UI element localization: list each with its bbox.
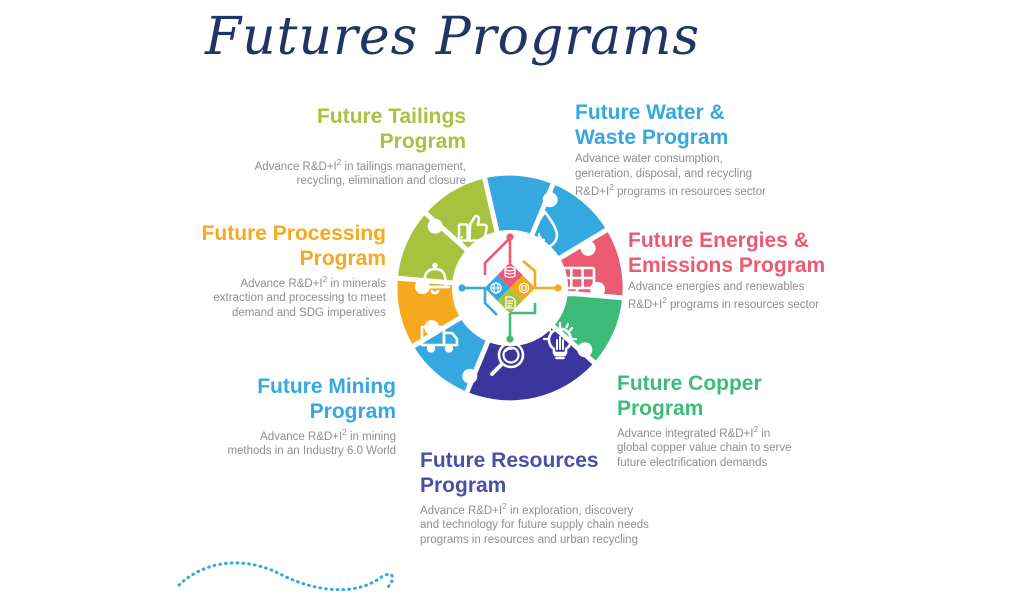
puzzle-wheel-diagram [385, 163, 635, 413]
desc-line: demand and SDG imperatives [232, 307, 386, 319]
program-title-line1: Future Resources [420, 449, 599, 472]
desc-line: Advance R&D+I2 in exploration, discovery [420, 505, 633, 517]
desc-line: Advance integrated R&D+I2 in [617, 428, 770, 440]
program-title-line2: Program [420, 474, 506, 497]
program-title-line1: Future Tailings [317, 105, 466, 128]
program-title-mining: Future Mining Program [200, 374, 396, 424]
desc-line: and technology for future supply chain n… [420, 519, 649, 531]
desc-line: Advance energies and renewables [628, 281, 804, 293]
decorative-swoosh [175, 552, 425, 600]
program-title-resources: Future Resources Program [420, 448, 676, 498]
program-desc-processing: Advance R&D+I2 in minerals extraction an… [182, 273, 386, 320]
desc-line: programs in resources and urban recyclin… [420, 534, 638, 546]
program-title-line2: Program [310, 400, 396, 423]
program-title-line2: Program [380, 130, 466, 153]
program-title-water: Future Water & Waste Program [575, 100, 835, 150]
program-desc-resources: Advance R&D+I2 in exploration, discovery… [420, 500, 676, 547]
program-title-processing: Future Processing Program [182, 221, 386, 271]
page-title: Futures Programs [205, 6, 625, 72]
desc-line: R&D+I2 programs in resources sector [628, 299, 819, 311]
program-desc-mining: Advance R&D+I2 in mining methods in an I… [200, 426, 396, 459]
program-title-copper: Future Copper Program [617, 371, 839, 421]
program-title-line2: Emissions Program [628, 254, 825, 277]
desc-line: Advance R&D+I2 in mining [260, 431, 396, 443]
program-title-line1: Future Copper [617, 372, 762, 395]
infographic-canvas: Futures Programs Future Tailings Program… [0, 0, 1024, 600]
program-title-line1: Future Energies & [628, 229, 809, 252]
desc-line: Advance R&D+I2 in minerals [240, 278, 386, 290]
program-title-line1: Future Mining [257, 375, 396, 398]
program-title-energies: Future Energies & Emissions Program [628, 228, 858, 278]
program-title-line2: Program [300, 247, 386, 270]
program-block-mining[interactable]: Future Mining Program Advance R&D+I2 in … [200, 374, 396, 459]
program-block-processing[interactable]: Future Processing Program Advance R&D+I2… [182, 221, 386, 320]
program-title-line1: Future Water & [575, 101, 725, 124]
program-title-tailings: Future Tailings Program [218, 104, 466, 154]
desc-line: methods in an Industry 6.0 World [227, 445, 396, 457]
swoosh-path [179, 563, 393, 590]
program-desc-energies: Advance energies and renewables R&D+I2 p… [628, 280, 858, 313]
program-title-line2: Waste Program [575, 126, 728, 149]
program-block-resources[interactable]: Future Resources Program Advance R&D+I2 … [420, 448, 676, 547]
program-title-line1: Future Processing [202, 222, 386, 245]
desc-line: extraction and processing to meet [213, 292, 386, 304]
program-block-energies[interactable]: Future Energies & Emissions Program Adva… [628, 228, 858, 313]
